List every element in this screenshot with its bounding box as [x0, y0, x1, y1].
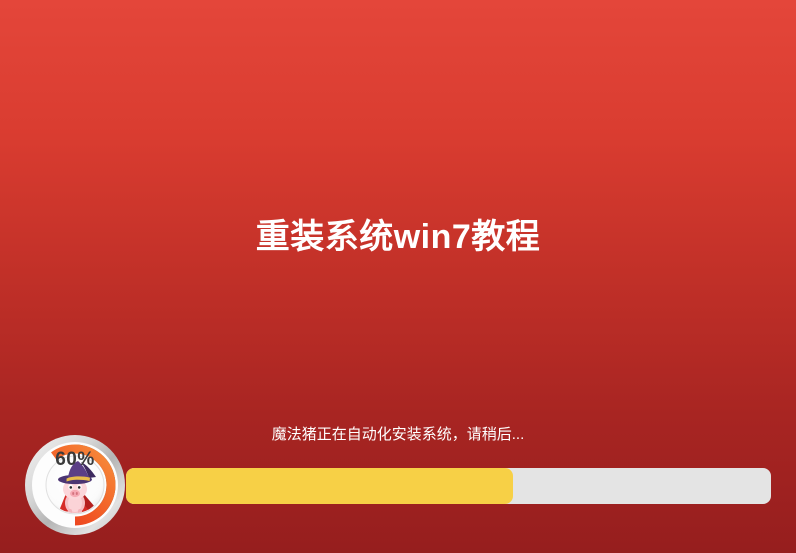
page-title: 重装系统win7教程: [0, 214, 796, 260]
installer-splash-screen: 重装系统win7教程 魔法猪正在自动化安装系统，请稍后...: [0, 0, 796, 553]
progress-bar-track: [126, 468, 771, 504]
progress-ring-icon: [23, 433, 127, 537]
progress-bar-fill: [126, 468, 513, 504]
progress-badge: 60%: [23, 433, 127, 537]
